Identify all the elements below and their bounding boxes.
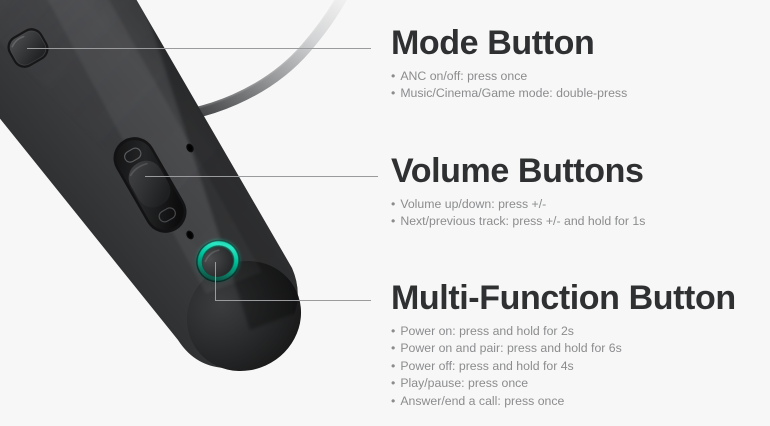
volume-up-marker — [123, 146, 143, 164]
list-item: Power off: press and hold for 4s — [391, 358, 736, 376]
leader-line-mode — [27, 48, 371, 49]
neckband-cable — [150, 0, 352, 118]
callout-volume-bullets: Volume up/down: press +/- Next/previous … — [391, 196, 645, 231]
callout-mode: Mode Button ANC on/off: press once Music… — [391, 26, 627, 103]
microphone-hole-upper-icon — [185, 142, 195, 153]
callout-multi-function: Multi-Function Button Power on: press an… — [391, 281, 736, 410]
callout-volume-title: Volume Buttons — [391, 154, 645, 190]
diagram-canvas: Mode Button ANC on/off: press once Music… — [0, 0, 770, 426]
multi-function-button[interactable] — [188, 232, 247, 290]
leader-line-mfb-horizontal — [215, 300, 371, 301]
multi-function-button-face[interactable] — [197, 242, 238, 283]
callout-volume: Volume Buttons Volume up/down: press +/-… — [391, 154, 645, 231]
list-item: Music/Cinema/Game mode: double-press — [391, 85, 627, 103]
microphone-hole-lower-inner — [186, 231, 193, 239]
volume-rocker-pad[interactable] — [123, 155, 176, 214]
leader-line-mfb-vertical — [215, 262, 216, 301]
callout-multi-function-title: Multi-Function Button — [391, 281, 736, 317]
list-item: Answer/end a call: press once — [391, 393, 736, 411]
microphone-hole-lower-icon — [185, 229, 195, 240]
list-item: Next/previous track: press +/- and hold … — [391, 213, 645, 231]
callout-multi-function-bullets: Power on: press and hold for 2s Power on… — [391, 323, 736, 411]
led-ring-icon — [193, 237, 243, 286]
volume-down-marker — [157, 206, 177, 224]
list-item: Power on: press and hold for 2s — [391, 323, 736, 341]
product-illustration — [0, 0, 420, 426]
earphone-body — [0, 0, 330, 392]
list-item: Play/pause: press once — [391, 375, 736, 393]
leader-line-volume — [145, 176, 378, 177]
callout-mode-bullets: ANC on/off: press once Music/Cinema/Game… — [391, 68, 627, 103]
volume-rocker[interactable] — [106, 129, 194, 240]
list-item: ANC on/off: press once — [391, 68, 627, 86]
list-item: Power on and pair: press and hold for 6s — [391, 340, 736, 358]
callout-mode-title: Mode Button — [391, 26, 627, 62]
microphone-hole-upper-inner — [186, 144, 193, 152]
list-item: Volume up/down: press +/- — [391, 196, 645, 214]
earphone-tip — [167, 240, 321, 392]
